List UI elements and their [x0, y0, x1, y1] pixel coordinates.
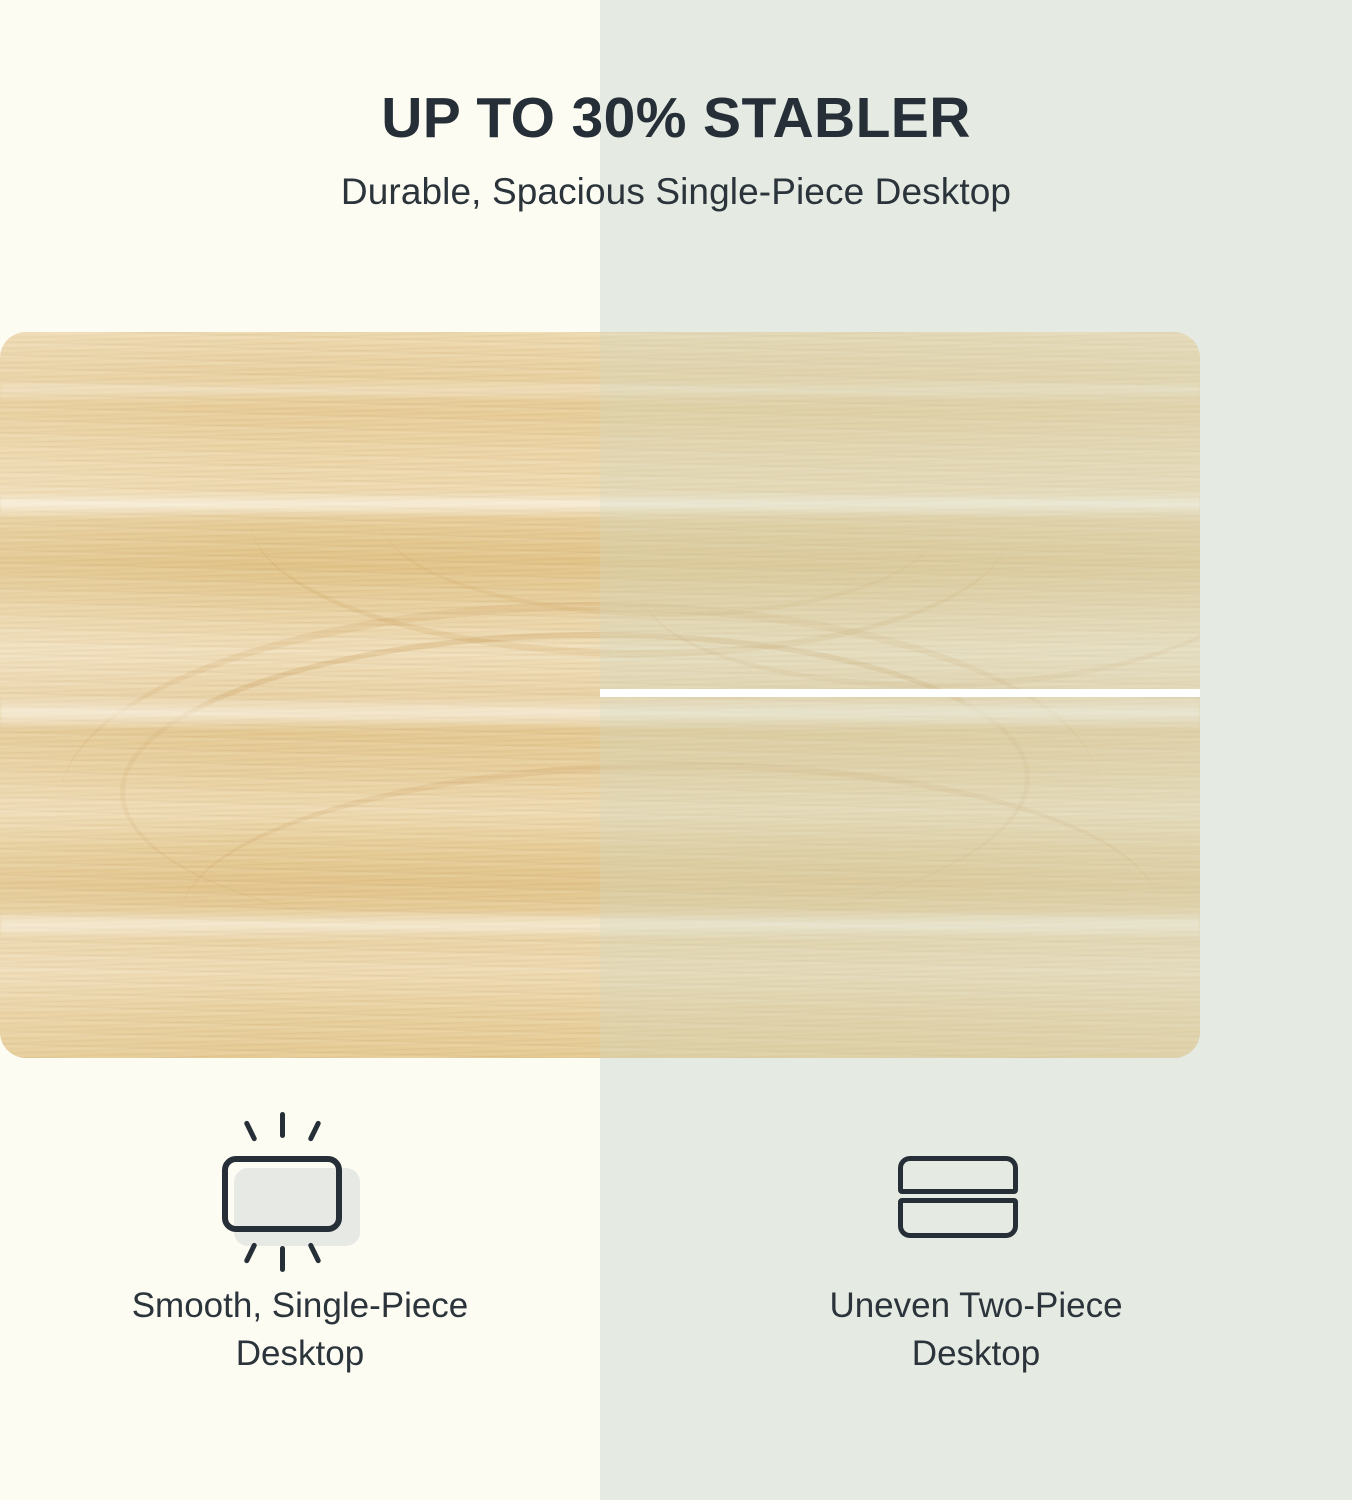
sparkle-ray-icon	[307, 1120, 321, 1142]
sparkle-ray-icon	[280, 1112, 285, 1138]
comparison-column-single-piece: Smooth, Single-Piece Desktop	[0, 1110, 600, 1440]
header: UP TO 30% STABLER Durable, Spacious Sing…	[0, 0, 1352, 214]
two-piece-desktop-icon	[876, 1110, 1076, 1260]
sparkle-ray-icon	[280, 1246, 285, 1272]
page-title: UP TO 30% STABLER	[0, 0, 1352, 150]
desktop-hero-image	[0, 332, 1200, 1058]
wood-desktop-surface	[0, 332, 1200, 1058]
wood-grain-texture-secondary	[0, 332, 1200, 1058]
comparison-caption-left: Smooth, Single-Piece Desktop	[132, 1282, 469, 1378]
infographic-page: UP TO 30% STABLER Durable, Spacious Sing…	[0, 0, 1352, 1500]
page-subtitle: Durable, Spacious Single-Piece Desktop	[0, 150, 1352, 214]
icon-desktop-top-piece	[898, 1156, 1018, 1194]
single-piece-desktop-icon	[200, 1110, 400, 1260]
comparison-column-two-piece: Uneven Two-Piece Desktop	[600, 1110, 1352, 1440]
sparkle-ray-icon	[243, 1120, 257, 1142]
icon-desktop-outline	[222, 1156, 342, 1232]
icon-desktop-bottom-piece	[898, 1198, 1018, 1238]
comparison-caption-right: Uneven Two-Piece Desktop	[829, 1282, 1122, 1378]
comparison-row: Smooth, Single-Piece Desktop Uneven Two-…	[0, 1110, 1352, 1440]
